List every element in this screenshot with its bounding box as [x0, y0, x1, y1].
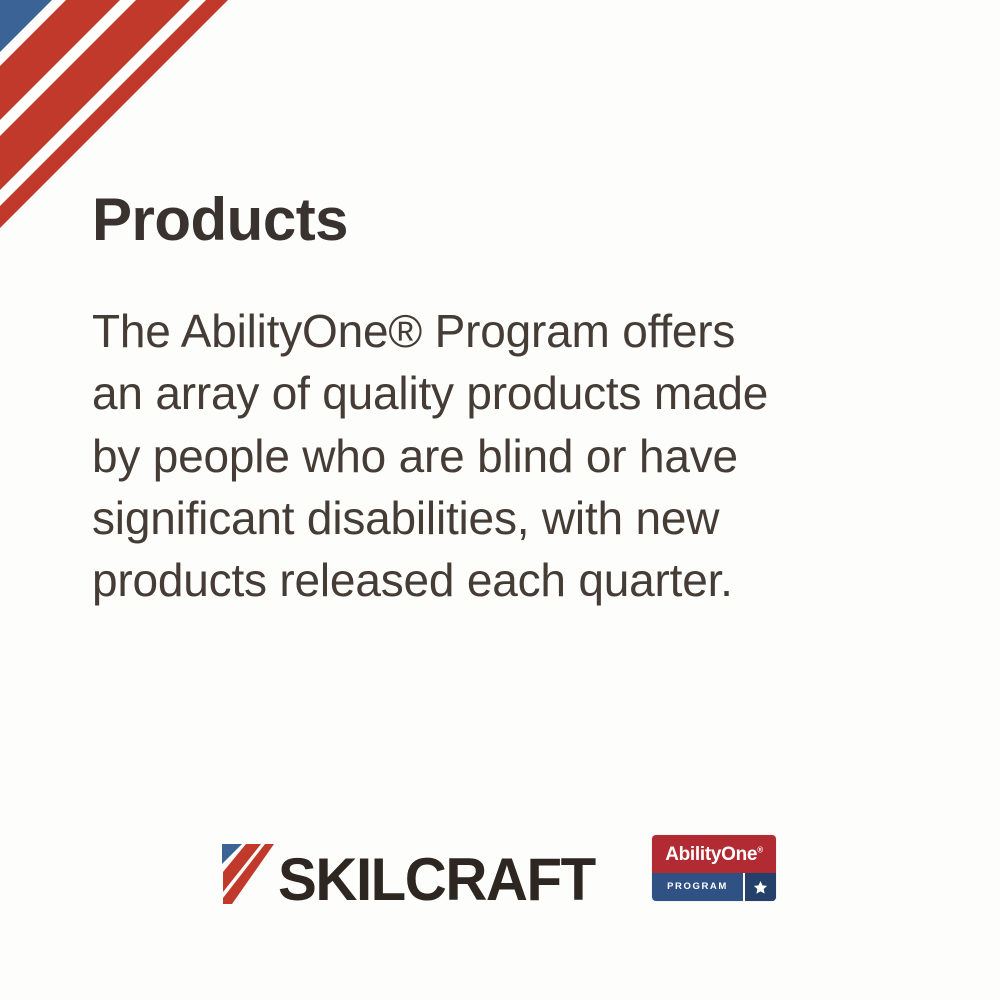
- abilityone-logo: AbilityOne® PROGRAM: [652, 835, 776, 901]
- skilcraft-logo: SKILCRAFT: [216, 830, 604, 906]
- abilityone-brand-name: AbilityOne: [665, 844, 757, 865]
- body-line-4: significant disabilities, with new: [92, 487, 882, 549]
- body-line-5: products released each quarter.: [92, 549, 882, 611]
- registered-trademark-icon: ®: [757, 845, 763, 854]
- star-icon: [753, 880, 768, 895]
- abilityone-program-band: PROGRAM: [652, 873, 776, 901]
- skilcraft-wordmark: SKILCRAFT: [278, 854, 595, 906]
- abilityone-program-label: PROGRAM: [652, 873, 743, 901]
- abilityone-star-box: [743, 873, 776, 901]
- body-line-3: by people who are blind or have: [92, 425, 882, 487]
- body-line-1: The AbilityOne® Program offers: [92, 300, 882, 362]
- flag-stripes-corner-icon: [0, 0, 300, 300]
- body-paragraph: The AbilityOne® Program offers an array …: [92, 300, 882, 612]
- skilcraft-stripes-mark-icon: [216, 842, 274, 906]
- abilityone-brand-band: AbilityOne®: [652, 835, 776, 873]
- product-info-card: Products The AbilityOne® Program offers …: [0, 0, 1000, 1000]
- body-line-2: an array of quality products made: [92, 362, 882, 424]
- page-title: Products: [92, 188, 348, 251]
- abilityone-brand-text: AbilityOne®: [665, 845, 763, 864]
- logo-row: SKILCRAFT AbilityOne® PROGRAM: [0, 818, 1000, 918]
